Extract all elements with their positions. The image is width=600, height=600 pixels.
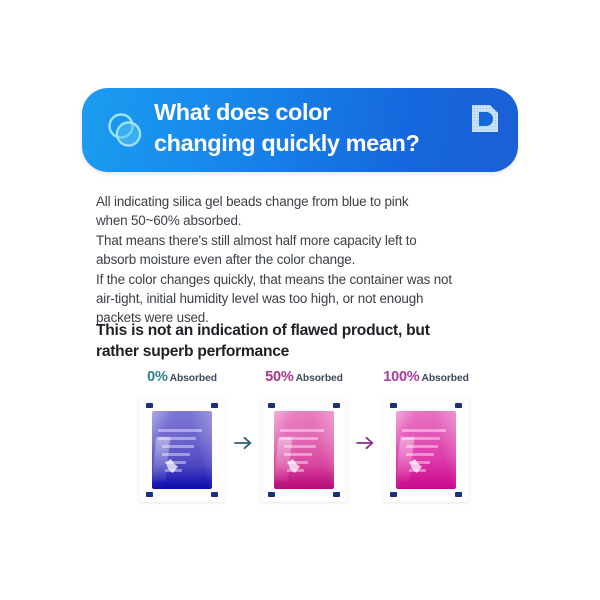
packet-crinkle-highlight: [396, 437, 414, 481]
packet-corner-mark: [455, 403, 462, 408]
packet-sheen: [396, 411, 456, 489]
packet-corner-mark: [211, 492, 218, 497]
packet-crinkle-highlight: [152, 437, 170, 481]
stage-0-percent: 0%: [147, 369, 168, 385]
page-title: What does color changing quickly mean?: [154, 97, 454, 159]
stage-1-label: 50%Absorbed: [248, 366, 360, 388]
brand-d-logo: [468, 102, 502, 136]
stage-0-label: 0%Absorbed: [126, 366, 238, 388]
arrow-pink-to-magenta-icon: [354, 432, 376, 454]
stage-100-absorbed: 100%Absorbed: [370, 366, 482, 502]
stage-50-absorbed: 50%Absorbed: [248, 366, 360, 502]
stage-2-label: 100%Absorbed: [370, 366, 482, 388]
stage-2-percent: 100%: [383, 369, 419, 385]
stage-0-absorbed: 0%Absorbed: [126, 366, 238, 502]
silica-packet-pink: [261, 398, 347, 502]
packet-corner-mark: [268, 403, 275, 408]
infographic-page: What does color changing quickly mean? A…: [0, 0, 600, 600]
stage-0-absorbed-text: Absorbed: [170, 373, 217, 384]
packet-corner-mark: [333, 492, 340, 497]
packet-speck-highlight: [166, 459, 178, 473]
silica-packet-magenta: [383, 398, 469, 502]
arrow-blue-to-pink-icon: [232, 432, 254, 454]
packet-print-lines: [402, 429, 450, 477]
silica-packet-blue: [139, 398, 225, 502]
overlapping-circles-icon: [102, 108, 148, 154]
packet-speck-highlight: [410, 459, 422, 473]
packet-sheen: [274, 411, 334, 489]
silica-gel-fill-pink: [274, 411, 334, 489]
header-banner: What does color changing quickly mean?: [82, 88, 518, 172]
packet-crinkle-highlight: [274, 437, 292, 481]
absorption-stage-row: 0%Absorbed 50%Absorbed: [118, 366, 490, 526]
packet-sheen: [152, 411, 212, 489]
packet-corner-mark: [146, 403, 153, 408]
stage-2-absorbed-text: Absorbed: [422, 373, 469, 384]
packet-corner-mark: [268, 492, 275, 497]
packet-speck-highlight: [288, 459, 300, 473]
stage-1-percent: 50%: [265, 369, 293, 385]
packet-corner-mark: [455, 492, 462, 497]
packet-print-lines: [280, 429, 328, 477]
packet-corner-mark: [211, 403, 218, 408]
packet-print-lines: [158, 429, 206, 477]
packet-corner-mark: [333, 403, 340, 408]
emphasis-statement: This is not an indication of flawed prod…: [96, 320, 516, 362]
silica-gel-fill-blue: [152, 411, 212, 489]
packet-corner-mark: [390, 492, 397, 497]
body-paragraph: All indicating silica gel beads change f…: [96, 192, 516, 328]
silica-gel-fill-magenta: [396, 411, 456, 489]
stage-1-absorbed-text: Absorbed: [296, 373, 343, 384]
packet-corner-mark: [390, 403, 397, 408]
packet-corner-mark: [146, 492, 153, 497]
